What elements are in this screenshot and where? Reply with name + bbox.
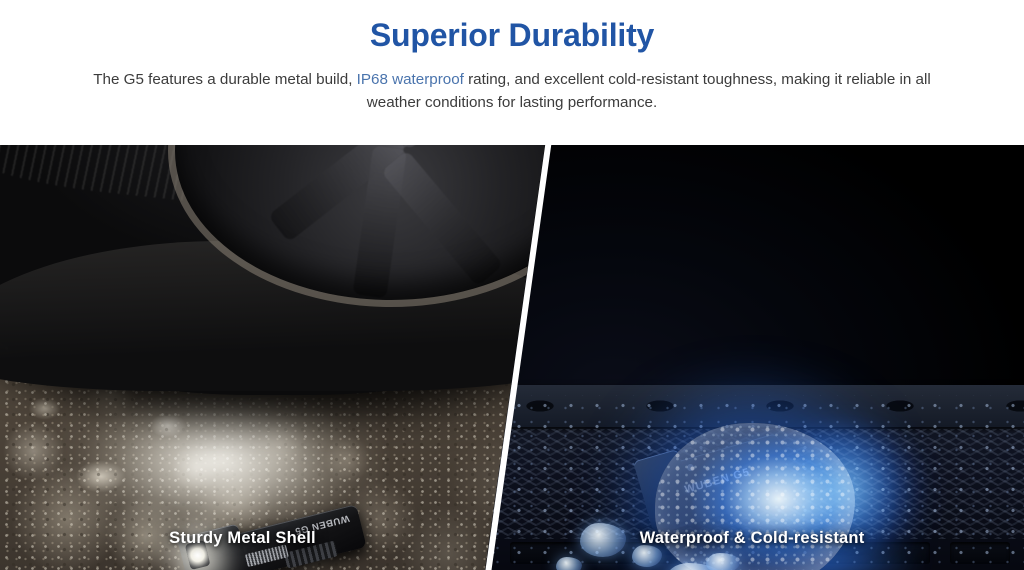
- caption-right: Waterproof & Cold-resistant: [480, 529, 1024, 548]
- subtitle-highlight-ip68: IP68 waterproof: [357, 71, 464, 88]
- ice-shard: [706, 553, 740, 570]
- subtitle-text-before: The G5 features a durable metal build,: [93, 71, 356, 88]
- header-section: Superior Durability The G5 features a du…: [0, 0, 1024, 114]
- product-feature-page: Superior Durability The G5 features a du…: [0, 0, 1024, 570]
- panel-sturdy-metal-shell: WUBEN G5 Sturdy Metal Shell: [0, 145, 560, 570]
- page-title: Superior Durability: [0, 19, 1024, 53]
- image-panels: WUBEN G5 Sturdy Metal Shell: [0, 145, 1024, 570]
- caption-left: Sturdy Metal Shell: [0, 529, 485, 548]
- ice-shard: [556, 557, 582, 570]
- page-subtitle: The G5 features a durable metal build, I…: [72, 68, 952, 114]
